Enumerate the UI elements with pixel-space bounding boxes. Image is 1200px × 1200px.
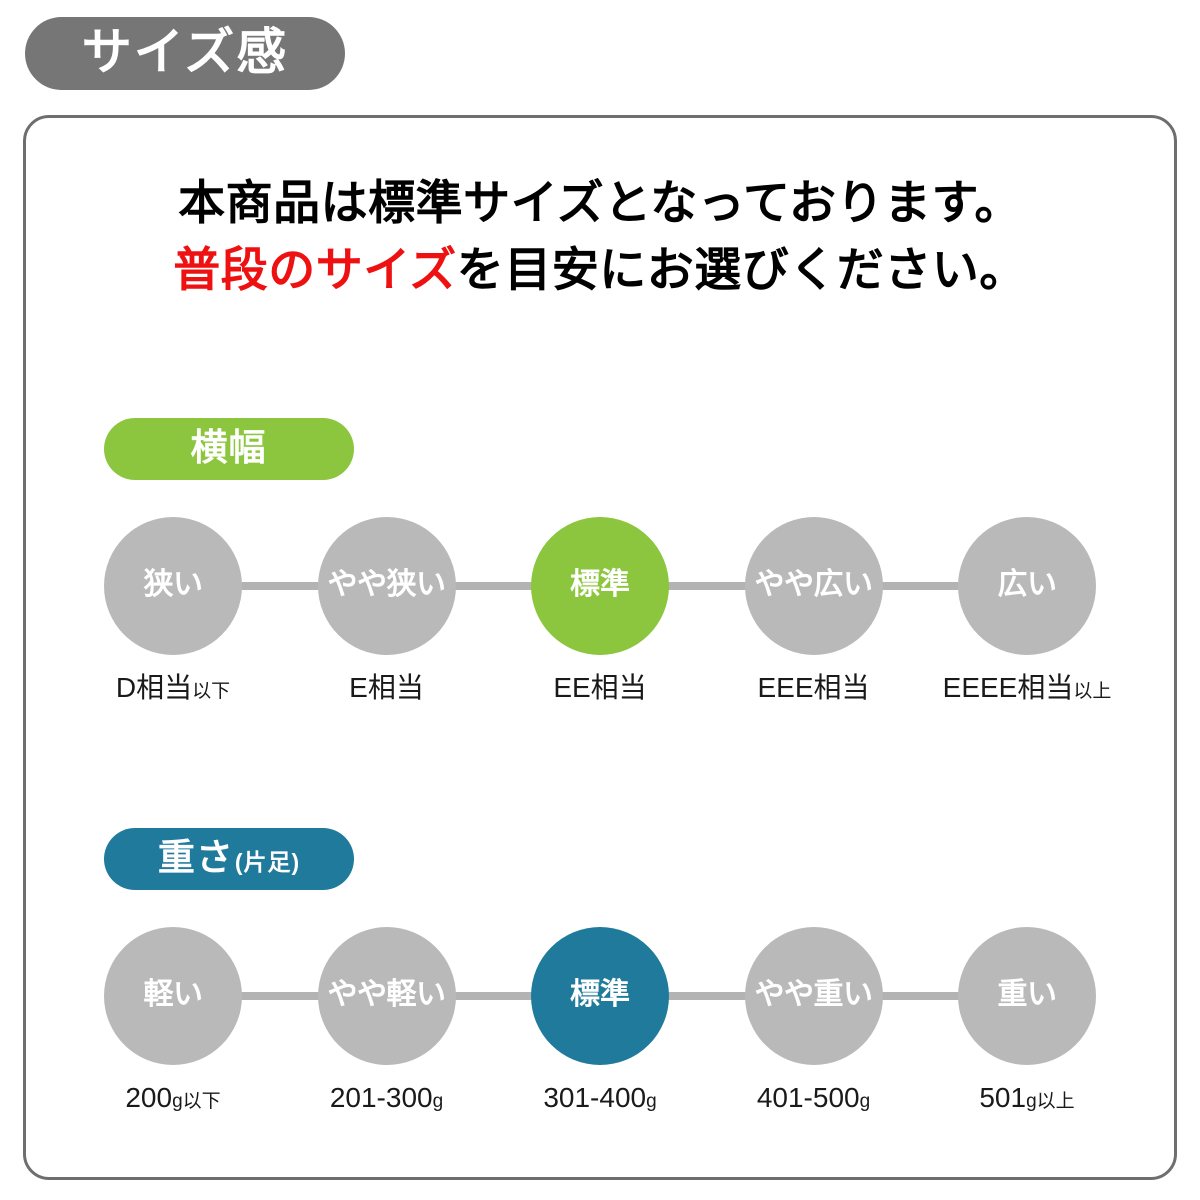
weight-node-heavy[interactable]: 重い xyxy=(958,927,1096,1065)
width-caption-wide-main: EEEE相当 xyxy=(943,674,1074,702)
width-caption-slightly-narrow: E相当 xyxy=(318,674,456,702)
weight-caption-slightly-heavy-sub: g xyxy=(860,1092,871,1111)
weight-node-slightly-heavy[interactable]: やや重い xyxy=(745,927,883,1065)
size-feel-header-badge: サイズ感 xyxy=(25,17,345,90)
width-scale-nodes: 狭い やや狭い 標準 やや広い 広い xyxy=(104,516,1096,656)
intro-headline: 本商品は標準サイズとなっております。 普段のサイズを目安にお選びください。 xyxy=(26,170,1174,303)
weight-caption-standard-sub: g xyxy=(646,1092,657,1111)
weight-node-standard[interactable]: 標準 xyxy=(531,927,669,1065)
weight-node-light[interactable]: 軽い xyxy=(104,927,242,1065)
section-width-badge-label: 横幅 xyxy=(191,429,268,469)
weight-scale-nodes: 軽い やや軽い 標準 やや重い 重い xyxy=(104,926,1096,1066)
width-node-wide[interactable]: 広い xyxy=(958,517,1096,655)
weight-caption-heavy: 501 g以上 xyxy=(958,1084,1096,1112)
width-caption-narrow-main: D相当 xyxy=(116,674,192,702)
width-node-slightly-narrow[interactable]: やや狭い xyxy=(318,517,456,655)
weight-caption-light-sub: g以下 xyxy=(172,1092,221,1111)
weight-caption-light: 200 g以下 xyxy=(104,1084,242,1112)
size-guide-card: 本商品は標準サイズとなっております。 普段のサイズを目安にお選びください。 横幅… xyxy=(23,115,1177,1180)
width-scale: 狭い やや狭い 標準 やや広い 広い xyxy=(26,516,1174,656)
section-width-badge-main: 横幅 xyxy=(191,429,267,466)
weight-node-heavy-label: 重い xyxy=(998,980,1057,1012)
width-node-slightly-wide-label: やや広い xyxy=(755,570,873,602)
width-caption-wide: EEEE相当 以上 xyxy=(958,674,1096,702)
intro-line-1: 本商品は標準サイズとなっております。 xyxy=(26,170,1174,237)
width-caption-standard-main: EE相当 xyxy=(553,674,646,702)
weight-node-standard-label: 標準 xyxy=(570,980,630,1012)
width-caption-narrow: D相当 以下 xyxy=(104,674,242,702)
section-width-badge: 横幅 xyxy=(104,418,354,480)
width-caption-narrow-sub: 以下 xyxy=(192,682,230,701)
width-node-standard[interactable]: 標準 xyxy=(531,517,669,655)
width-caption-slightly-wide-main: EEE相当 xyxy=(757,674,869,702)
weight-captions: 200 g以下 201-300 g 301-400 g 401-500 g 50… xyxy=(26,1084,1174,1112)
weight-node-slightly-light-label: やや軽い xyxy=(328,980,446,1012)
section-width: 横幅 狭い やや狭い 標準 やや広い 広い xyxy=(26,418,1174,702)
weight-caption-standard: 301-400 g xyxy=(531,1084,669,1112)
width-caption-slightly-wide: EEE相当 xyxy=(745,674,883,702)
intro-rest-text: を目安にお選びください。 xyxy=(457,243,1027,296)
weight-node-light-label: 軽い xyxy=(144,980,203,1012)
width-node-narrow-label: 狭い xyxy=(144,570,203,602)
weight-caption-light-main: 200 xyxy=(125,1084,172,1112)
width-caption-wide-sub: 以上 xyxy=(1073,682,1111,701)
width-node-slightly-narrow-label: やや狭い xyxy=(328,570,446,602)
width-caption-standard: EE相当 xyxy=(531,674,669,702)
width-captions: D相当 以下 E相当 EE相当 EEE相当 EEEE相当 以上 xyxy=(26,674,1174,702)
weight-caption-standard-main: 301-400 xyxy=(543,1084,646,1112)
weight-caption-slightly-light: 201-300 g xyxy=(318,1084,456,1112)
section-weight: 重さ (片足) 軽い やや軽い 標準 やや重い 重い xyxy=(26,828,1174,1112)
width-caption-slightly-narrow-main: E相当 xyxy=(349,674,424,702)
intro-accent-text: 普段のサイズ xyxy=(173,243,457,296)
intro-line-2: 普段のサイズを目安にお選びください。 xyxy=(26,237,1174,304)
weight-caption-heavy-sub: g以上 xyxy=(1026,1092,1075,1111)
weight-scale: 軽い やや軽い 標準 やや重い 重い xyxy=(26,926,1174,1066)
width-node-narrow[interactable]: 狭い xyxy=(104,517,242,655)
weight-node-slightly-heavy-label: やや重い xyxy=(755,980,873,1012)
section-weight-badge-sub: (片足) xyxy=(235,851,300,874)
weight-caption-slightly-light-sub: g xyxy=(433,1092,444,1111)
section-weight-badge: 重さ (片足) xyxy=(104,828,354,890)
weight-caption-slightly-light-main: 201-300 xyxy=(330,1084,433,1112)
width-node-slightly-wide[interactable]: やや広い xyxy=(745,517,883,655)
width-node-standard-label: 標準 xyxy=(570,570,630,602)
section-weight-badge-label: 重さ (片足) xyxy=(158,839,300,879)
weight-node-slightly-light[interactable]: やや軽い xyxy=(318,927,456,1065)
size-feel-header-label: サイズ感 xyxy=(82,27,289,81)
weight-caption-slightly-heavy-main: 401-500 xyxy=(757,1084,860,1112)
weight-caption-heavy-main: 501 xyxy=(979,1084,1026,1112)
section-weight-badge-main: 重さ xyxy=(158,839,234,876)
width-node-wide-label: 広い xyxy=(998,570,1057,602)
weight-caption-slightly-heavy: 401-500 g xyxy=(745,1084,883,1112)
